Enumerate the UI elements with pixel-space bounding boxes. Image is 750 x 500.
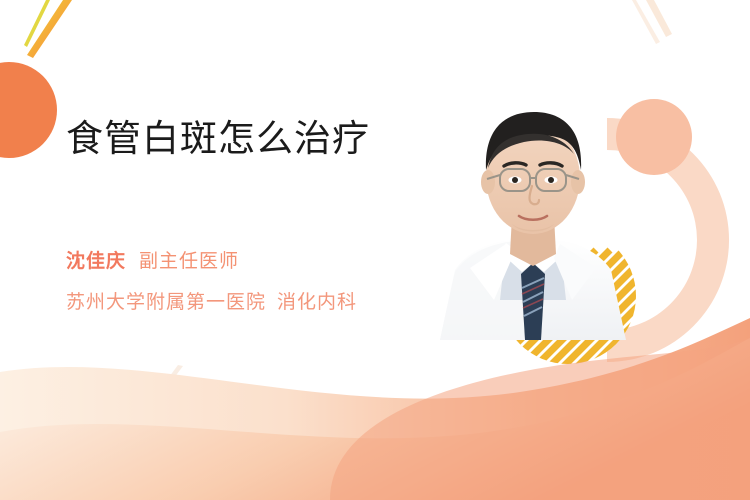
bottom-wave-accent — [330, 338, 750, 500]
striped-disc-decor — [442, 220, 708, 390]
dress-shirt — [500, 244, 566, 300]
peach-circle-decor — [616, 99, 692, 175]
lower-left-faint-stripe — [155, 365, 183, 398]
peach-arc-decor — [607, 118, 729, 362]
head — [486, 122, 580, 234]
bottom-wave-front — [0, 338, 750, 500]
eyeglasses — [487, 169, 579, 191]
top-right-stripes — [632, 0, 672, 44]
doctor-hospital: 苏州大学附属第一医院 — [66, 292, 266, 313]
doctor-department: 消化内科 — [277, 292, 357, 313]
doctor-identity-line: 沈佳庆副主任医师 — [66, 248, 239, 276]
page-title: 食管白斑怎么治疗 — [66, 116, 370, 162]
neck — [510, 216, 556, 266]
top-left-stripes — [24, 0, 72, 58]
orange-circle-decor — [0, 62, 57, 158]
bottom-wave-back — [0, 318, 750, 500]
doctor-affiliation-line: 苏州大学附属第一医院消化内科 — [66, 289, 357, 317]
doctor-video-card: 食管白斑怎么治疗 沈佳庆副主任医师 苏州大学附属第一医院消化内科 — [0, 0, 750, 500]
necktie — [521, 263, 545, 340]
doctor-name: 沈佳庆 — [66, 251, 126, 272]
doctor-professional-title: 副主任医师 — [139, 251, 239, 272]
hair — [486, 112, 581, 170]
lab-coat — [440, 238, 626, 340]
